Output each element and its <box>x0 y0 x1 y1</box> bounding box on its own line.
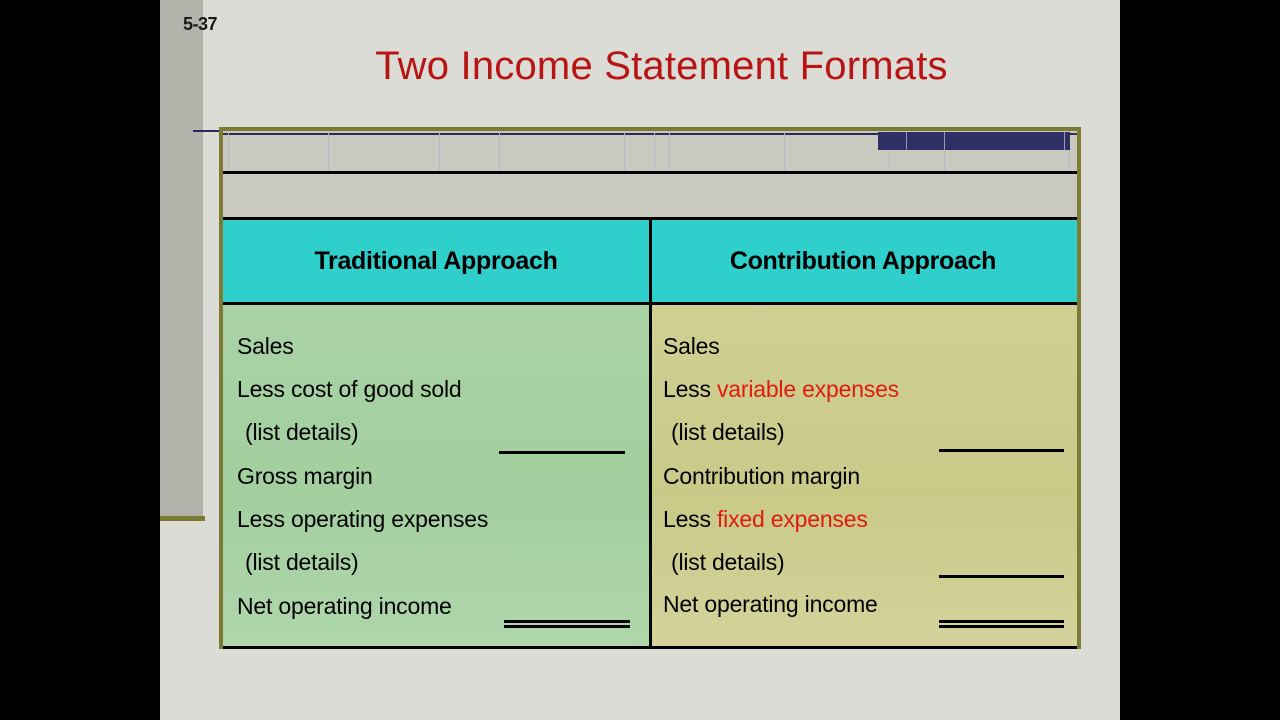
column-header-traditional: Traditional Approach <box>223 220 649 302</box>
column-divider <box>649 217 652 649</box>
column-header-contribution: Contribution Approach <box>649 220 1077 302</box>
income-statement-table: Traditional Approach Contribution Approa… <box>219 127 1081 649</box>
list-item: Contribution margin <box>663 463 860 490</box>
list-item: (list details) <box>671 549 785 576</box>
list-item-emphasis: variable expenses <box>717 376 899 402</box>
contribution-approach-column: Sales Less variable expenses (list detai… <box>649 305 1077 646</box>
list-item: Less fixed expenses <box>663 506 868 533</box>
list-item: (list details) <box>245 549 359 576</box>
list-item-lead: Net operating income <box>663 591 878 617</box>
list-item: Net operating income <box>237 593 452 620</box>
subtotal-underline <box>939 449 1064 452</box>
worksheet-column-strip <box>223 131 1077 171</box>
list-item: Net operating income <box>663 591 878 618</box>
left-side-panel <box>160 0 203 521</box>
selection-block-split <box>944 132 945 150</box>
list-item: Less operating expenses <box>237 506 488 533</box>
worksheet-selection-block[interactable] <box>878 132 1070 150</box>
slide-stage: 5-37 Two Income Statement Formats <box>0 0 1280 720</box>
slide-number: 5-37 <box>183 14 217 35</box>
page-title: Two Income Statement Formats <box>203 44 1120 89</box>
worksheet-blank-band <box>223 174 1077 217</box>
list-item-lead: Less <box>663 506 717 532</box>
worksheet-gridline <box>784 131 785 171</box>
list-item-lead: Sales <box>663 333 720 359</box>
divider-rule <box>223 646 1077 649</box>
worksheet-gridline <box>439 131 440 171</box>
subtotal-underline <box>499 451 625 454</box>
worksheet-gridline <box>654 131 655 171</box>
list-item: Sales <box>663 333 720 360</box>
total-double-underline <box>939 620 1064 628</box>
list-item-lead: Less <box>663 376 717 402</box>
worksheet-gridline <box>669 131 670 171</box>
list-item: (list details) <box>671 419 785 446</box>
total-double-underline <box>504 620 630 628</box>
list-item-lead: (list details) <box>671 419 785 445</box>
selection-block-split <box>906 132 907 150</box>
worksheet-gridline <box>624 131 625 171</box>
worksheet-gridline <box>499 131 500 171</box>
list-item: Less variable expenses <box>663 376 899 403</box>
list-item: Sales <box>237 333 294 360</box>
worksheet-gridline <box>328 131 329 171</box>
worksheet-gridline <box>228 131 229 171</box>
subtotal-underline <box>939 575 1064 578</box>
traditional-approach-column: Sales Less cost of good sold (list detai… <box>223 305 649 646</box>
selection-block-split <box>1064 132 1065 150</box>
list-item-emphasis: fixed expenses <box>717 506 868 532</box>
list-item-lead: (list details) <box>671 549 785 575</box>
list-item: Less cost of good sold <box>237 376 461 403</box>
list-item-lead: Contribution margin <box>663 463 860 489</box>
left-side-panel-edge <box>160 516 205 521</box>
list-item: (list details) <box>245 419 359 446</box>
list-item: Gross margin <box>237 463 373 490</box>
